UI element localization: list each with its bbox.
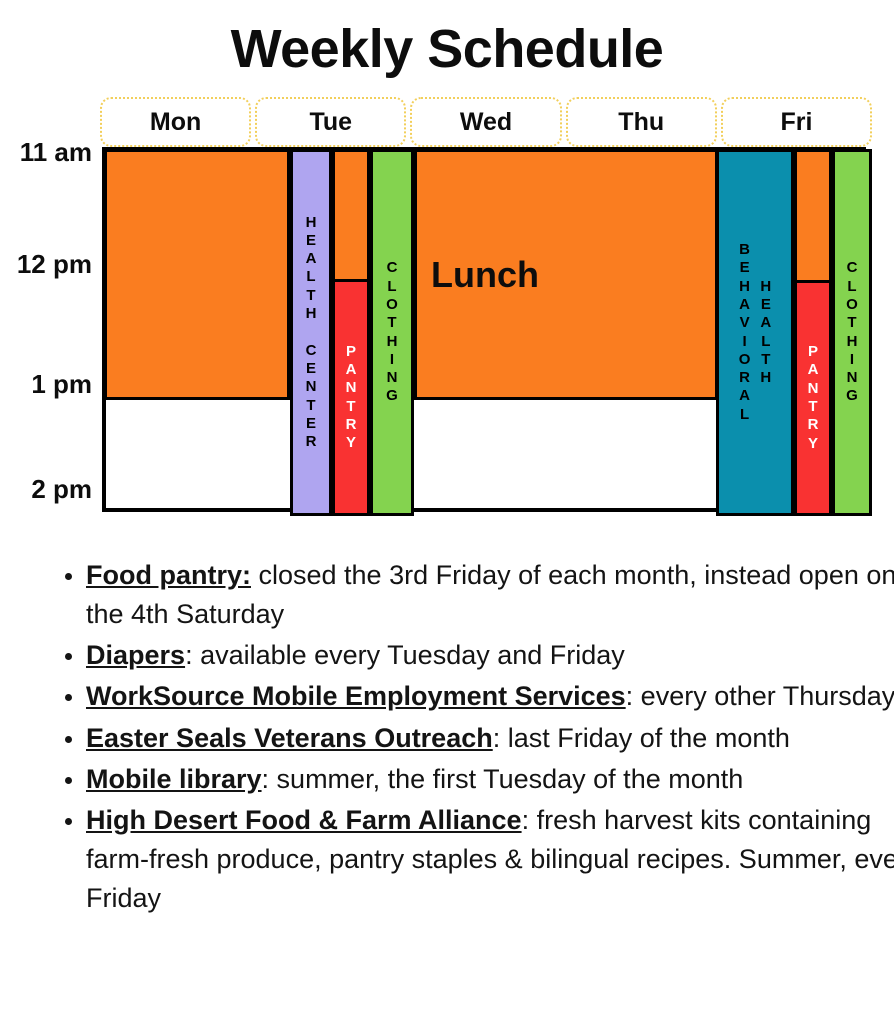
- block-lunch-mon[interactable]: [104, 149, 290, 400]
- note-text: : last Friday of the month: [493, 723, 790, 753]
- note-lead: Diapers: [86, 640, 185, 670]
- note-item-worksource: WorkSource Mobile Employment Services: e…: [86, 677, 894, 716]
- day-tab-mon[interactable]: Mon: [100, 97, 251, 147]
- note-item-easter-seals: Easter Seals Veterans Outreach: last Fri…: [86, 719, 894, 758]
- note-text: : every other Thursday: [626, 681, 894, 711]
- notes-list: Food pantry: closed the 3rd Friday of ea…: [46, 556, 894, 920]
- note-lead: WorkSource Mobile Employment Services: [86, 681, 626, 711]
- block-lunch-wed-thu[interactable]: Lunch: [414, 149, 718, 400]
- note-item-food-pantry: Food pantry: closed the 3rd Friday of ea…: [86, 556, 894, 634]
- block-fri-health-label: HEALTH: [760, 278, 771, 388]
- page-title: Weekly Schedule: [0, 20, 894, 79]
- block-tue-pantry-label: PANTRY: [346, 343, 357, 453]
- note-lead: High Desert Food & Farm Alliance: [86, 805, 522, 835]
- block-fri-clothing-label: CLOTHING: [846, 259, 858, 405]
- note-lead: Mobile library: [86, 764, 262, 794]
- note-item-mobile-library: Mobile library: summer, the first Tuesda…: [86, 760, 894, 799]
- time-label-12pm: 12 pm: [0, 249, 92, 280]
- block-tue-health-center-label: HEALTH CENTER: [306, 214, 317, 452]
- day-tab-wed[interactable]: Wed: [410, 97, 561, 147]
- block-fri-behavioral-health[interactable]: BEHAVIORAL HEALTH: [716, 149, 794, 516]
- block-tue-health-center[interactable]: HEALTH CENTER: [290, 149, 332, 516]
- note-lead: Food pantry:: [86, 560, 251, 590]
- block-fri-clothing[interactable]: CLOTHING: [832, 149, 872, 516]
- time-label-11am: 11 am: [0, 137, 92, 168]
- schedule-grid: HEALTH CENTER PANTRY CLOTHING Lunch BEHA…: [102, 147, 866, 512]
- day-header-row: Mon Tue Wed Thu Fri: [100, 97, 872, 147]
- time-label-2pm: 2 pm: [0, 474, 92, 505]
- block-tue-clothing-label: CLOTHING: [386, 259, 398, 405]
- block-tue-pantry[interactable]: PANTRY: [332, 279, 370, 516]
- block-lunch-tue-strip[interactable]: [332, 149, 370, 282]
- block-tue-clothing[interactable]: CLOTHING: [370, 149, 414, 516]
- day-tab-tue[interactable]: Tue: [255, 97, 406, 147]
- note-item-diapers: Diapers: available every Tuesday and Fri…: [86, 636, 894, 675]
- day-tab-thu[interactable]: Thu: [566, 97, 717, 147]
- block-lunch-fri-strip[interactable]: [794, 149, 832, 283]
- day-tab-fri[interactable]: Fri: [721, 97, 872, 147]
- note-text: : summer, the first Tuesday of the month: [262, 764, 744, 794]
- note-lead: Easter Seals Veterans Outreach: [86, 723, 493, 753]
- time-label-1pm: 1 pm: [0, 369, 92, 400]
- block-fri-pantry-label: PANTRY: [808, 343, 819, 453]
- block-fri-behavioral-label: BEHAVIORAL: [739, 241, 751, 424]
- note-text: : available every Tuesday and Friday: [185, 640, 625, 670]
- block-fri-pantry[interactable]: PANTRY: [794, 280, 832, 516]
- note-item-high-desert: High Desert Food & Farm Alliance: fresh …: [86, 801, 894, 918]
